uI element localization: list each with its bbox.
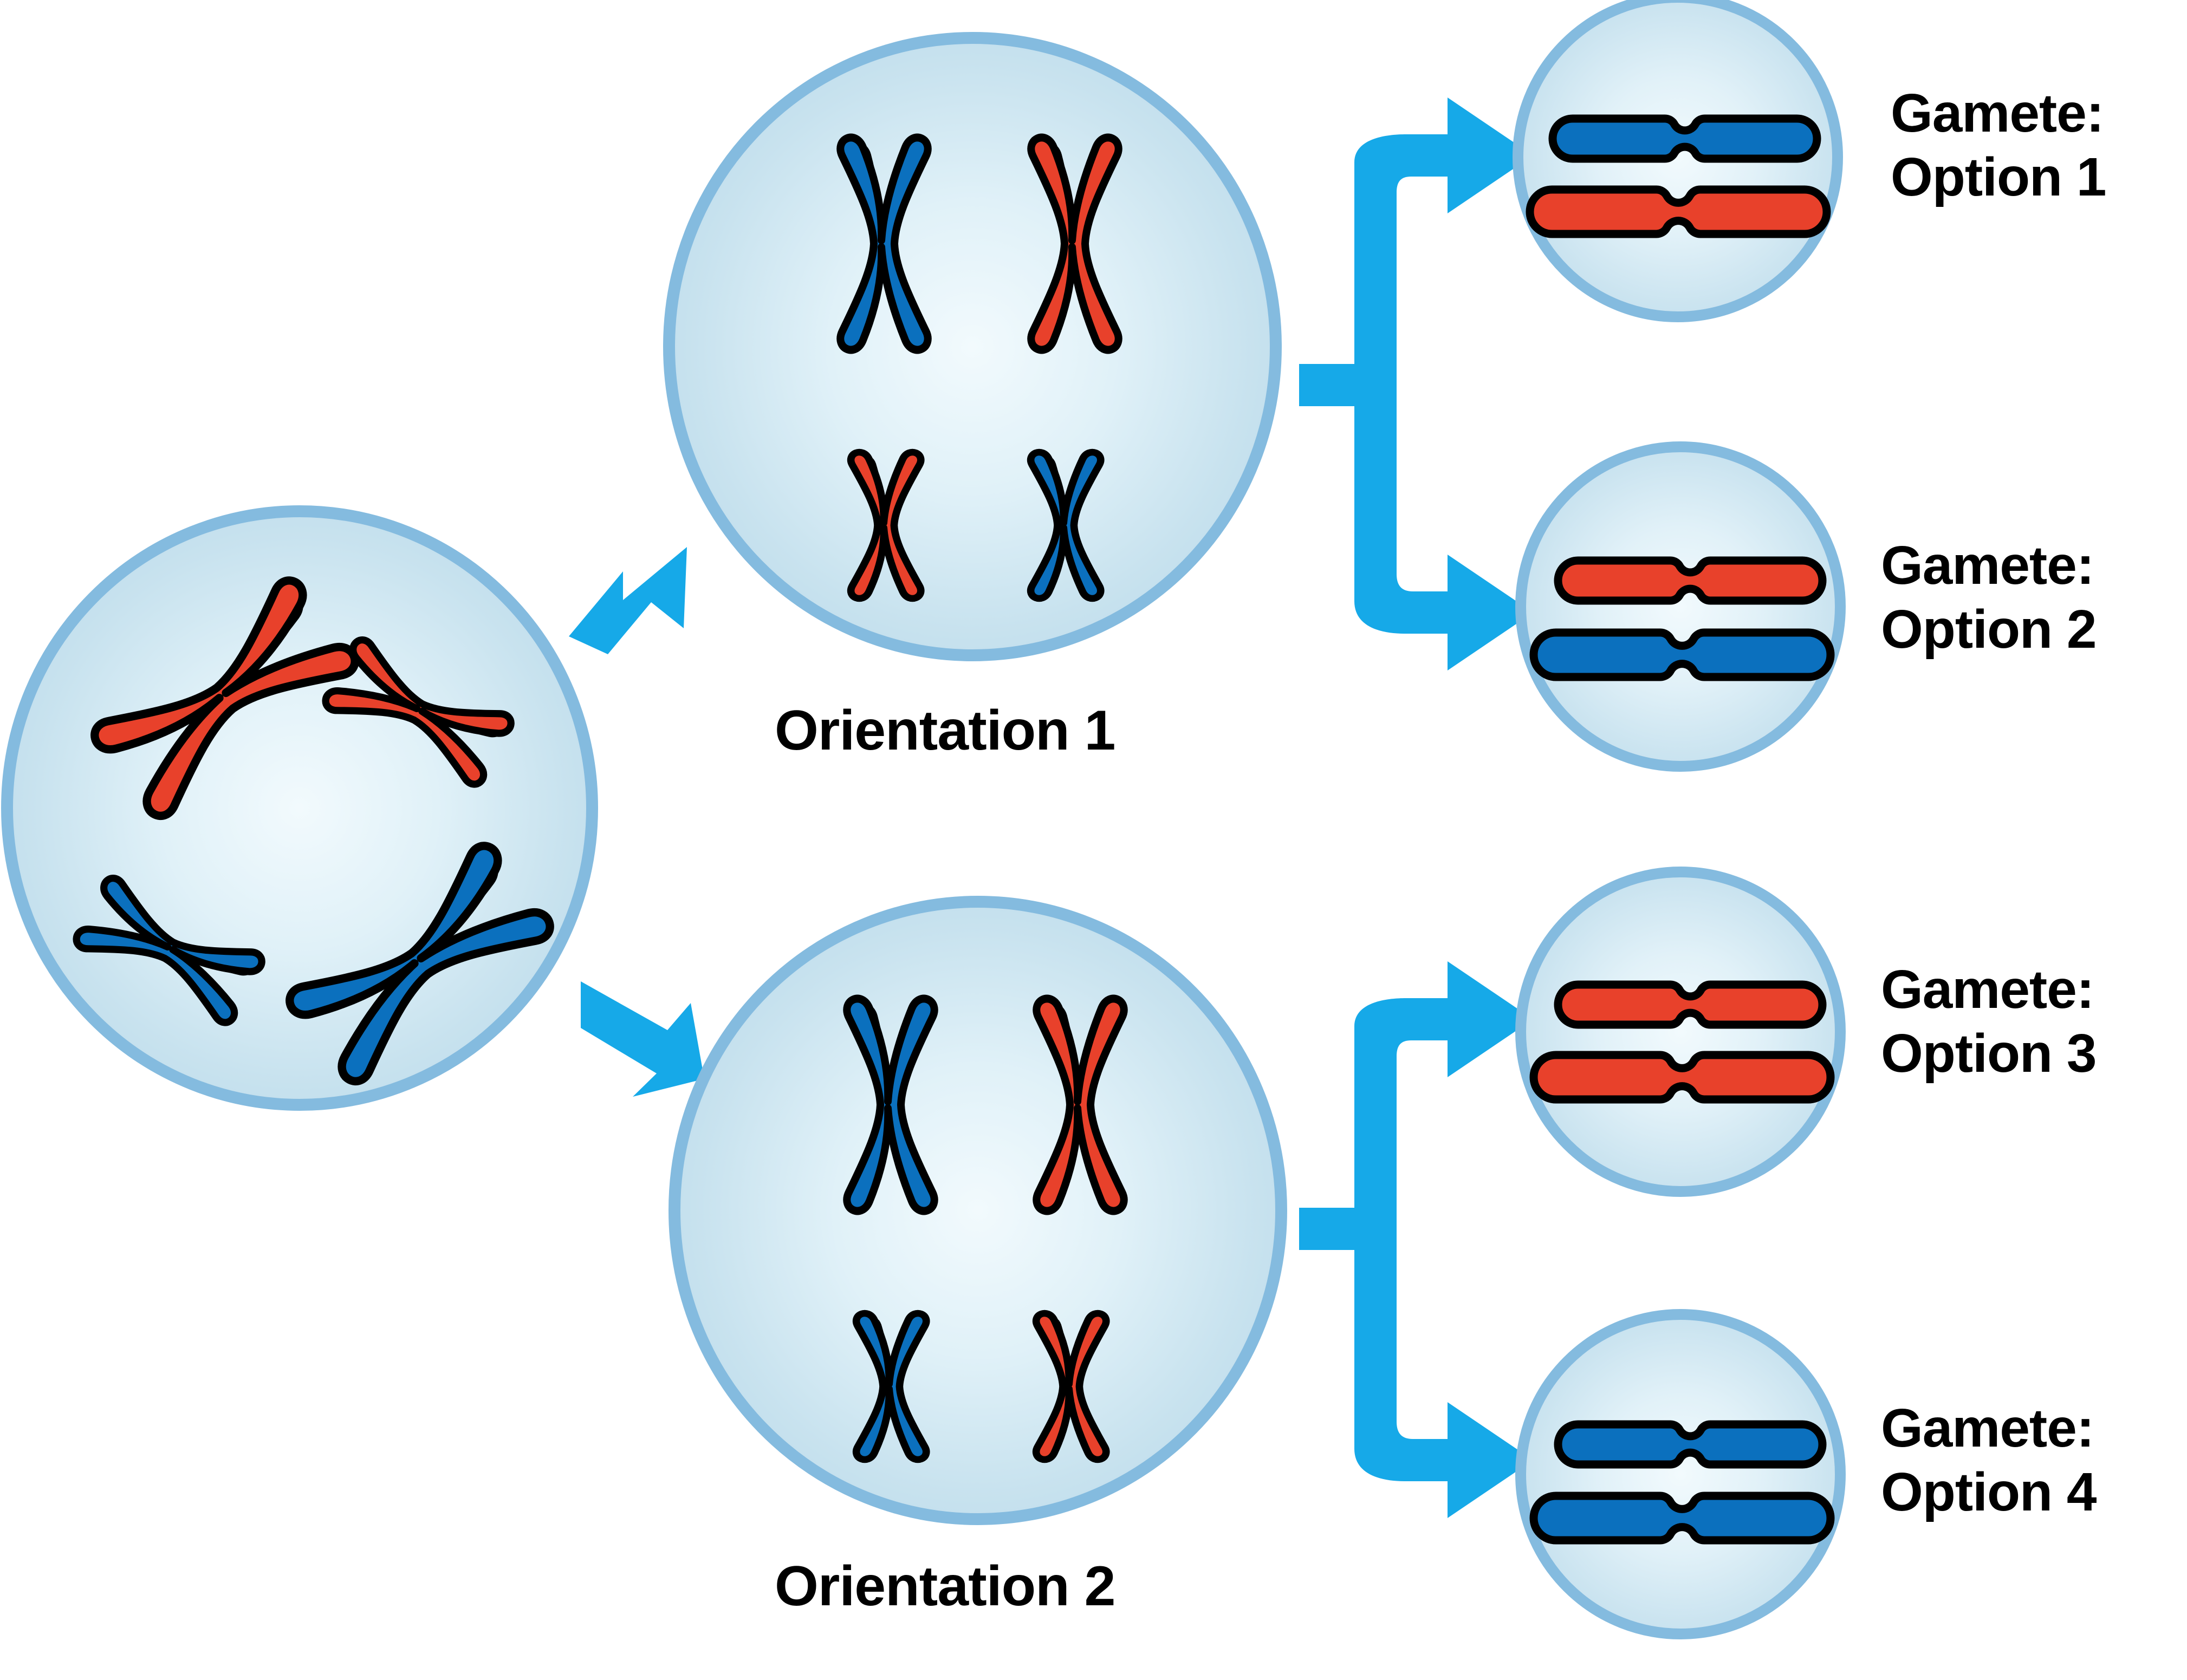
gamete-4-label-line2: Option 4 (1881, 1460, 2097, 1524)
gamete-3-label-line1: Gamete: (1881, 958, 2097, 1021)
orientation-2-cell (674, 902, 1281, 1519)
gamete-4-label: Gamete: Option 4 (1881, 1396, 2097, 1524)
gamete-1-label-line1: Gamete: (1891, 81, 2106, 145)
gamete-3-cell (1521, 872, 1840, 1191)
orientation-2-label: Orientation 2 (775, 1553, 1115, 1620)
bracket-orientation-2-to-gametes (1299, 961, 1533, 1518)
orientation-1-label: Orientation 1 (775, 698, 1115, 764)
gamete-1-cell (1518, 0, 1838, 317)
gamete-2-label: Gamete: Option 2 (1881, 533, 2097, 661)
parent-cell (7, 511, 592, 1105)
gamete-1-label: Gamete: Option 1 (1891, 81, 2106, 209)
gamete-2-membrane (1521, 447, 1840, 766)
gamete-3-membrane (1521, 872, 1840, 1191)
gamete-3-label-line2: Option 3 (1881, 1021, 2097, 1085)
gamete-3-label: Gamete: Option 3 (1881, 958, 2097, 1085)
gamete-1-label-line2: Option 1 (1891, 145, 2106, 209)
orientation-1-membrane (669, 38, 1276, 655)
meiosis-independent-assortment-figure (0, 0, 2187, 1680)
arrow-parent-to-orientation-2 (581, 981, 704, 1097)
gamete-4-label-line1: Gamete: (1881, 1396, 2097, 1460)
diagram-canvas: Orientation 1 Orientation 2 Gamete: Opti… (0, 0, 2187, 1680)
arrow-parent-to-orientation-1 (569, 547, 687, 654)
gamete-4-membrane (1521, 1314, 1840, 1634)
gamete-2-label-line1: Gamete: (1881, 533, 2097, 597)
gamete-2-cell (1521, 447, 1840, 766)
gamete-2-label-line2: Option 2 (1881, 597, 2097, 661)
gamete-4-cell (1521, 1314, 1840, 1634)
orientation-2-membrane (674, 902, 1281, 1519)
bracket-orientation-1-to-gametes (1299, 97, 1533, 670)
orientation-1-cell (669, 38, 1276, 655)
